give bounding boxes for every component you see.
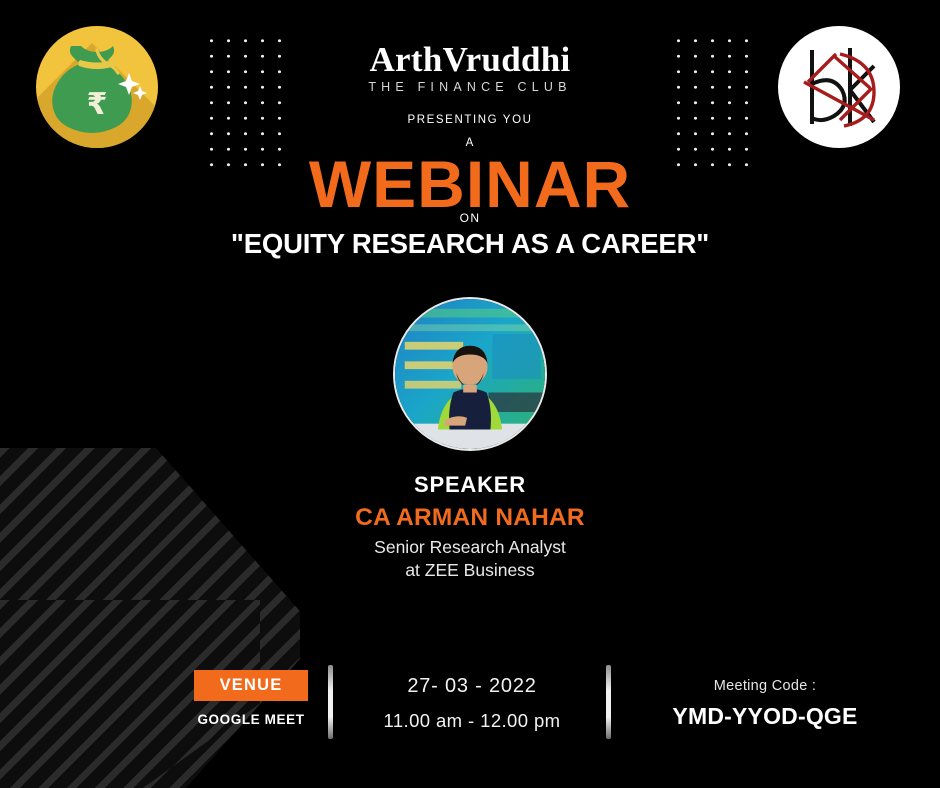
speaker-label: SPEAKER: [0, 472, 940, 498]
brand-tagline: THE FINANCE CLUB: [0, 80, 940, 94]
webinar-poster: ₹ ArthVruddhi THE FINANCE CLUB PRESENTIN…: [0, 0, 940, 788]
brand-name: ArthVruddhi: [0, 42, 940, 77]
section-divider-2: [606, 665, 611, 739]
venue-badge: VENUE: [194, 670, 308, 701]
meeting-code-label: Meeting Code :: [625, 678, 905, 694]
event-date: 27- 03 - 2022: [352, 675, 592, 698]
meeting-code-value: YMD-YYOD-QGE: [625, 703, 905, 730]
presenting-label: PRESENTING YOU: [0, 114, 940, 126]
webinar-topic: "EQUITY RESEARCH AS A CAREER": [0, 228, 940, 260]
venue-value: GOOGLE MEET: [194, 712, 308, 727]
speaker-role-line1: Senior Research Analyst: [0, 537, 940, 558]
on-label: ON: [0, 211, 940, 225]
speaker-photo: [393, 297, 547, 451]
speaker-portrait-illustration: [395, 299, 545, 449]
section-divider-1: [328, 665, 333, 739]
event-time: 11.00 am - 12.00 pm: [352, 710, 592, 732]
event-type-heading: WEBINAR: [0, 150, 940, 219]
speaker-name: CA ARMAN NAHAR: [0, 504, 940, 532]
speaker-role-line2: at ZEE Business: [0, 560, 940, 581]
